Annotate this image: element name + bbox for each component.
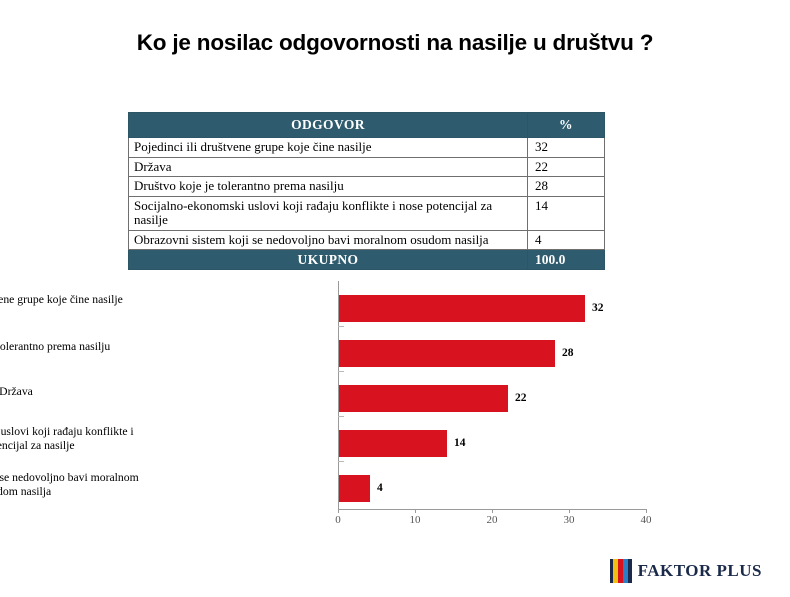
table-row: Socijalno-ekonomski uslovi koji rađaju k… (129, 196, 605, 230)
chart-bar (339, 295, 585, 322)
slide: Ko je nosilac odgovornosti na nasilje u … (0, 0, 790, 597)
chart-category-label: Država (0, 385, 142, 399)
chart-category-label: Socijalno-ekonomski uslovi koji rađaju k… (0, 425, 142, 453)
chart-data-label: 14 (454, 437, 466, 449)
chart-x-tick (492, 509, 493, 513)
chart-x-tick (646, 509, 647, 513)
chart-bar (339, 430, 447, 457)
cell-answer: Pojedinci ili društvene grupe koje čine … (129, 138, 528, 158)
chart-x-tick (338, 509, 339, 513)
column-header-percent: % (528, 113, 605, 138)
chart-data-label: 4 (377, 482, 383, 494)
chart-grid-stub (338, 371, 344, 372)
cell-value: 22 (528, 157, 605, 177)
chart-data-label: 28 (562, 347, 574, 359)
chart-category-label: Društvo koje je tolerantno prema nasilju (0, 340, 142, 354)
table-row: Država 22 (129, 157, 605, 177)
bar-chart: Pojedinci ili društvene grupe koje čine … (84, 281, 704, 533)
chart-bar (339, 340, 555, 367)
cell-value: 32 (528, 138, 605, 158)
cell-answer: Država (129, 157, 528, 177)
brand-logo: FAKTOR PLUS (610, 559, 762, 583)
table-header-row: ODGOVOR % (129, 113, 605, 138)
chart-x-tick-label: 0 (335, 514, 341, 526)
chart-x-tick-label: 20 (487, 514, 498, 526)
results-table: ODGOVOR % Pojedinci ili društvene grupe … (128, 112, 605, 270)
cell-total-value: 100.0 (528, 250, 605, 270)
chart-x-tick-label: 10 (410, 514, 421, 526)
table-row: Obrazovni sistem koji se nedovoljno bavi… (129, 230, 605, 250)
cell-answer: Društvo koje je tolerantno prema nasilju (129, 177, 528, 197)
chart-bar (339, 385, 508, 412)
chart-x-tick (415, 509, 416, 513)
chart-bar (339, 475, 370, 502)
cell-total-label: UKUPNO (129, 250, 528, 270)
table-row: Društvo koje je tolerantno prema nasilju… (129, 177, 605, 197)
cell-value: 4 (528, 230, 605, 250)
page-title: Ko je nosilac odgovornosti na nasilje u … (0, 30, 790, 56)
chart-x-tick-label: 30 (564, 514, 575, 526)
chart-category-label: Pojedinci ili društvene grupe koje čine … (0, 293, 142, 307)
chart-grid-stub (338, 416, 344, 417)
chart-data-label: 22 (515, 392, 527, 404)
cell-answer: Socijalno-ekonomski uslovi koji rađaju k… (129, 196, 528, 230)
chart-data-label: 32 (592, 302, 604, 314)
faktor-plus-logo-icon (610, 559, 632, 583)
chart-grid-stub (338, 461, 344, 462)
chart-x-tick-label: 40 (641, 514, 652, 526)
results-table-wrapper: ODGOVOR % Pojedinci ili društvene grupe … (128, 112, 605, 270)
column-header-answer: ODGOVOR (129, 113, 528, 138)
chart-x-tick (569, 509, 570, 513)
chart-category-label: Obrazovni sistem koji se nedovoljno bavi… (0, 471, 142, 499)
brand-name: FAKTOR PLUS (638, 561, 762, 581)
cell-answer: Obrazovni sistem koji se nedovoljno bavi… (129, 230, 528, 250)
cell-value: 28 (528, 177, 605, 197)
chart-grid-stub (338, 326, 344, 327)
table-row: Pojedinci ili društvene grupe koje čine … (129, 138, 605, 158)
table-total-row: UKUPNO 100.0 (129, 250, 605, 270)
cell-value: 14 (528, 196, 605, 230)
